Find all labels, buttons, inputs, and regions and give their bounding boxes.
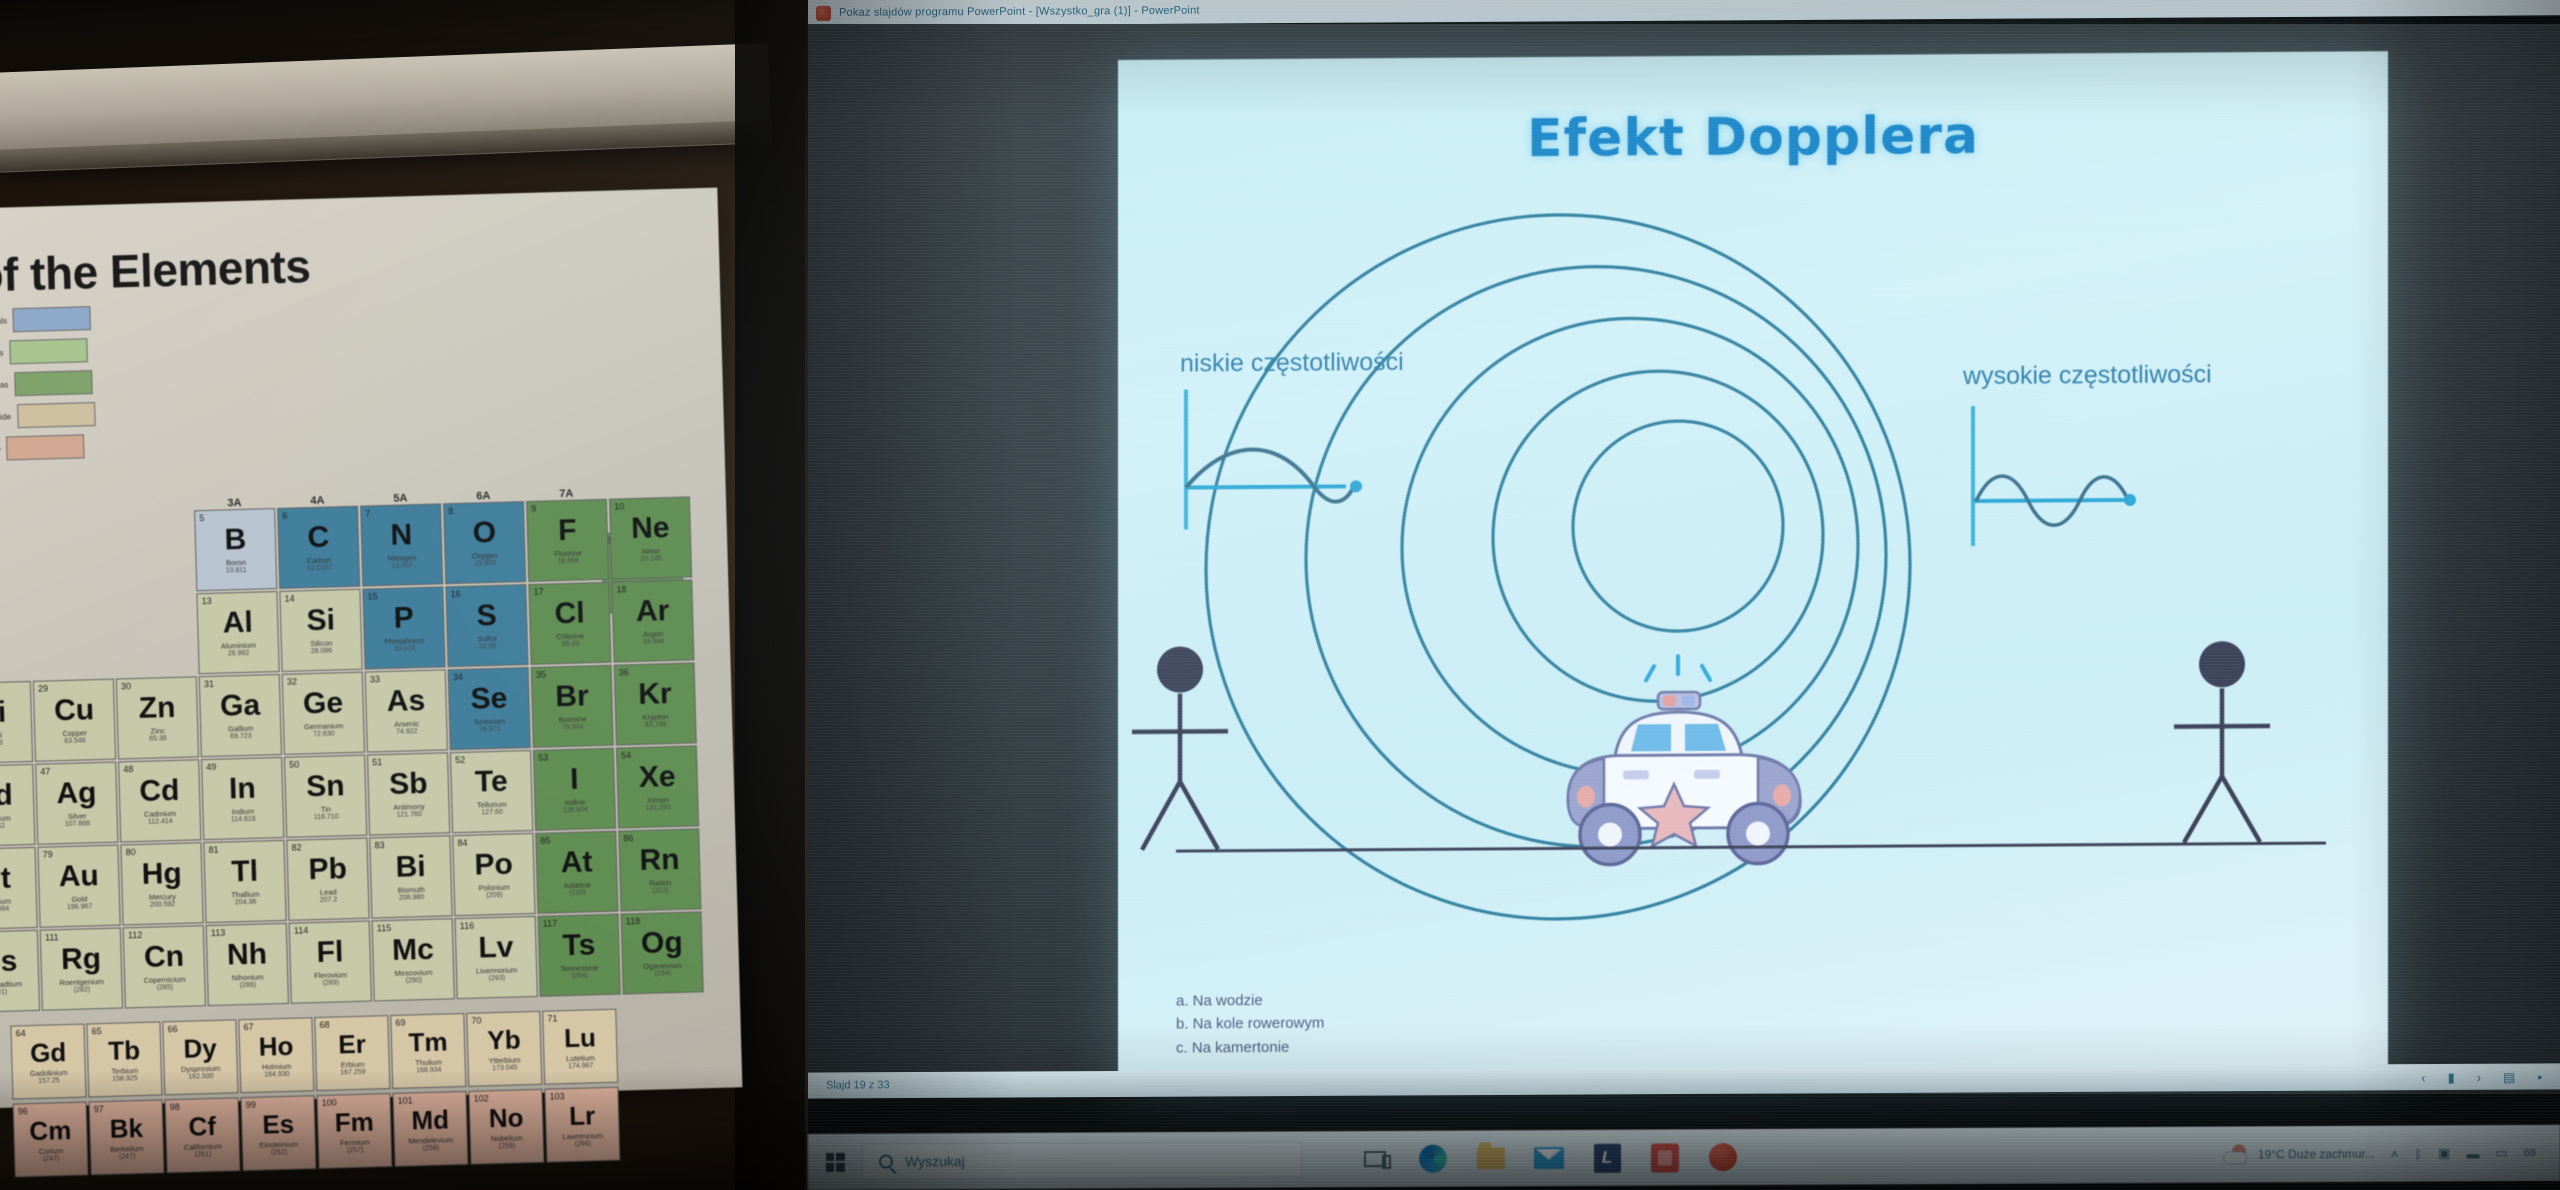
taskbar-app-icons: L [1360, 1142, 1738, 1174]
element-symbol: Lv [478, 933, 514, 964]
more-options-button[interactable]: ▪ [2537, 1070, 2542, 1083]
edge-icon [1419, 1145, 1447, 1173]
powerpoint-icon [816, 5, 831, 20]
element-name: Fermium [340, 1137, 370, 1147]
element-cell-rg: 111RgRoentgenium(282) [40, 928, 123, 1011]
element-mass: 208.980 [399, 894, 424, 902]
element-cell-se: 34SeSelenium78.971 [448, 667, 531, 750]
element-number: 64 [15, 1028, 25, 1038]
element-mass: (257) [347, 1146, 364, 1153]
element-symbol: Ge [303, 688, 344, 719]
element-cell-au: 79AuGold196.967 [37, 845, 120, 928]
element-number: 6 [282, 511, 287, 521]
element-symbol: Mc [392, 935, 435, 966]
wall-dark-edge [735, 0, 805, 1190]
element-name: Gold [71, 894, 87, 903]
legend-swatch [9, 338, 88, 364]
element-symbol: Au [58, 861, 99, 892]
screenshot-root: of the Elements Nonmetals Halogens Noble… [0, 0, 2560, 1190]
red-app-icon [1651, 1143, 1679, 1172]
element-mass: (266) [575, 1140, 592, 1147]
legend-item: Halogens [0, 336, 130, 366]
element-cell-br: 35BrBromine79.904 [531, 665, 614, 748]
element-cell-p: 15PPhosphorus30.974 [362, 586, 445, 669]
periodic-table-grid: 3A 4A 5A 6A 7A 5BBoron10.8116CCarbon12.0… [0, 484, 724, 1180]
element-name: Selenium [474, 717, 506, 727]
legend-swatch [13, 306, 92, 332]
element-symbol: Rg [61, 944, 102, 975]
element-symbol: As [386, 686, 425, 717]
element-mass: 131.293 [645, 804, 670, 812]
doppler-diagram [1118, 51, 2388, 1090]
previous-slide-button[interactable]: ‹ [2421, 1071, 2425, 1084]
element-symbol: Tm [408, 1028, 448, 1055]
element-cell-pd: 46PdPalladium106.42 [0, 764, 35, 847]
element-cell-pb: 82PbLead207.2 [286, 838, 369, 921]
element-mass: 196.967 [67, 903, 92, 911]
element-symbol: B [224, 525, 247, 556]
element-cell-te: 52TeTellurium127.60 [450, 750, 533, 833]
element-number: 16 [450, 589, 460, 599]
element-symbol: Gd [30, 1039, 67, 1066]
periodic-table-poster: of the Elements Nonmetals Halogens Noble… [0, 188, 742, 1109]
battery-indicator[interactable]: 68 [2524, 1147, 2536, 1160]
element-number: 116 [460, 921, 475, 931]
next-slide-button[interactable]: › [2477, 1070, 2481, 1083]
element-number: 68 [319, 1020, 329, 1030]
element-mass: (259) [499, 1142, 516, 1149]
element-cell-ga: 31GaGallium69.723 [199, 674, 282, 757]
element-symbol: Cl [554, 598, 585, 629]
legend-label: Lanthanide [0, 412, 11, 422]
element-cell-md: 101MdMendelevium(258) [392, 1091, 468, 1167]
element-cell-cm: 96CmCurium(247) [13, 1102, 89, 1178]
element-symbol: In [229, 774, 256, 805]
element-symbol: Fm [334, 1108, 374, 1135]
element-mass: 173.045 [492, 1064, 517, 1072]
element-mass: 195.084 [0, 906, 9, 914]
element-cell-ge: 32GeGermanium72.630 [282, 672, 365, 755]
element-number: 36 [619, 667, 629, 677]
element-symbol: Bk [109, 1114, 143, 1141]
element-symbol: Br [555, 681, 589, 712]
element-symbol: Se [470, 684, 508, 715]
network-icon[interactable]: ▣ [2438, 1145, 2450, 1161]
element-mass: (251) [195, 1151, 212, 1158]
element-cell-c: 6CCarbon12.0107 [277, 506, 360, 589]
element-symbol: Sb [389, 769, 428, 800]
slideshow-nav-controls: ‹ ▮ › ▤ ▪ [2421, 1070, 2542, 1084]
element-symbol: Md [411, 1106, 449, 1133]
element-symbol: Te [474, 767, 508, 798]
element-cell-ds: 110DsDarmstadtium(281) [0, 930, 40, 1013]
element-mass: 39.948 [643, 638, 665, 646]
element-number: 70 [471, 1015, 481, 1025]
element-number: 7 [365, 508, 370, 518]
element-cell-tb: 65TbTerbium158.925 [86, 1021, 162, 1097]
element-number: 98 [170, 1102, 180, 1112]
windows-logo-icon [826, 1152, 845, 1171]
element-cell-tl: 81TlThallium204.38 [203, 840, 286, 923]
show-hidden-icons-button[interactable]: ˄ [2391, 1146, 2399, 1161]
element-mass: (290) [406, 977, 423, 984]
element-mass: 18.998 [557, 558, 579, 566]
element-cell-si: 14SiSilicon28.086 [279, 589, 362, 672]
element-number: 53 [538, 753, 548, 763]
element-symbol: Si [306, 605, 335, 636]
search-input[interactable]: Wyszukaj [862, 1141, 1302, 1179]
element-number: 99 [246, 1100, 256, 1110]
element-number: 103 [549, 1091, 564, 1101]
element-symbol: Cu [54, 695, 95, 726]
element-symbol: Dy [183, 1034, 217, 1061]
slideshow-menu-button[interactable]: ▤ [2503, 1070, 2515, 1083]
element-symbol: P [393, 603, 414, 634]
element-symbol: No [488, 1104, 523, 1131]
element-cell-ag: 47AgSilver107.868 [35, 762, 118, 845]
element-name: Polonium [478, 883, 510, 893]
element-number: 113 [211, 928, 226, 938]
element-mass: 78.971 [479, 726, 501, 734]
volume-icon[interactable]: ▬ [2466, 1146, 2479, 1161]
projection-screen: Pokaz slajdów programu PowerPoint - [Wsz… [808, 0, 2560, 1190]
powerpoint-taskbar-button[interactable] [1708, 1142, 1738, 1172]
element-cell-cu: 29CuCopper63.546 [33, 679, 116, 762]
start-button[interactable] [808, 1152, 862, 1171]
element-symbol: Hg [141, 859, 182, 890]
element-symbol: Zn [138, 693, 175, 724]
element-cell-cl: 17ClChlorine35.45 [528, 582, 611, 665]
element-number: 54 [621, 750, 631, 760]
element-mass: 79.904 [562, 724, 584, 732]
element-mass: (210) [569, 890, 586, 897]
edge-button[interactable] [1418, 1144, 1448, 1174]
element-number: 86 [623, 833, 633, 843]
bluetooth-icon[interactable]: ᛒ [2414, 1146, 2422, 1161]
element-mass: 35.45 [562, 641, 580, 648]
element-symbol: Lr [569, 1102, 596, 1129]
element-mass: (294) [654, 970, 671, 977]
element-cell-po: 84PoPolonium(209) [452, 833, 535, 916]
element-cell-n: 7NNitrogen14.007 [360, 503, 443, 586]
messages-icon[interactable]: ▭ [2495, 1145, 2507, 1161]
element-symbol: Yb [487, 1026, 521, 1053]
element-symbol: Ts [562, 930, 596, 961]
element-mass: 12.0107 [307, 564, 332, 572]
element-mass: 28.086 [311, 647, 333, 655]
periodic-table-rows: 5BBoron10.8116CCarbon12.01077NNitrogen14… [0, 496, 720, 1012]
element-mass: (286) [240, 982, 257, 989]
legend-item: Actinide [0, 432, 133, 462]
element-symbol: Po [474, 850, 513, 881]
element-cell-sb: 51SbAntimony121.760 [367, 752, 450, 835]
element-mass: (222) [652, 887, 669, 894]
element-symbol: Cf [188, 1112, 216, 1139]
element-cell-bk: 97BkBerkelium(247) [89, 1099, 165, 1175]
periodic-table-row: 5BBoron10.8116CCarbon12.01077NNitrogen14… [194, 496, 708, 591]
element-mass: 167.259 [340, 1068, 365, 1076]
powerpoint-taskbar-icon [1709, 1143, 1737, 1171]
element-mass: 20.180 [640, 555, 662, 563]
element-number: 117 [543, 918, 558, 928]
legend-label: Nonmetals [0, 316, 7, 326]
element-cell-lr: 103LrLawrencium(266) [544, 1087, 620, 1163]
element-mass: (293) [489, 975, 506, 982]
mail-icon [1534, 1147, 1564, 1169]
element-mass: 107.868 [65, 820, 90, 828]
element-number: 114 [294, 925, 309, 935]
element-mass: 58.693 [0, 740, 3, 748]
periodic-table-row: 13AlAluminium26.98214SiSilicon28.08615PP… [196, 579, 710, 674]
element-cell-ne: 10NeNeon20.180 [609, 496, 692, 579]
element-symbol: Pd [0, 780, 13, 811]
element-symbol: Nh [227, 939, 268, 970]
element-mass: 204.38 [235, 899, 257, 907]
task-view-button[interactable] [1360, 1144, 1390, 1174]
element-number: 66 [167, 1024, 177, 1034]
element-symbol: C [307, 523, 330, 554]
element-mass: 126.904 [562, 806, 587, 814]
element-number: 17 [533, 587, 543, 597]
element-symbol: F [558, 516, 577, 547]
element-number: 96 [18, 1106, 28, 1116]
element-cell-fl: 114FlFlerovium(289) [289, 921, 372, 1004]
legend-item: Nonmetals [0, 304, 129, 334]
element-number: 14 [284, 594, 294, 604]
element-symbol: Es [262, 1110, 295, 1137]
element-mass: (294) [571, 972, 588, 979]
element-cell-ts: 117TsTennessine(294) [538, 914, 621, 997]
element-mass: (209) [486, 892, 503, 899]
element-cell-f: 9FFluorine18.998 [526, 499, 609, 582]
element-name: Tin [321, 805, 331, 814]
element-number: 85 [540, 835, 550, 845]
element-mass: 26.982 [228, 650, 250, 658]
element-symbol: Kr [638, 679, 672, 710]
element-mass: 65.38 [149, 735, 167, 742]
element-number: 49 [206, 762, 216, 772]
element-cell-og: 118OgOganesson(294) [621, 911, 704, 994]
element-name: Chlorine [556, 631, 584, 641]
file-explorer-button[interactable] [1476, 1143, 1506, 1173]
element-mass: 32.06 [479, 643, 497, 650]
librus-button[interactable]: L [1592, 1143, 1622, 1173]
element-mass: 74.922 [396, 728, 418, 736]
element-mass: 112.414 [148, 818, 173, 826]
powerpoint-titlebar: Pokaz slajdów programu PowerPoint - [Wsz… [808, 0, 2560, 26]
element-number: 8 [448, 506, 453, 516]
element-mass: (247) [43, 1155, 60, 1162]
element-cell-cn: 112CnCopernicium(285) [123, 925, 206, 1008]
search-icon [879, 1155, 893, 1169]
element-mass: 63.546 [64, 737, 86, 745]
element-cell-es: 99EsEinsteinium(252) [241, 1095, 317, 1171]
element-mass: 174.967 [568, 1062, 593, 1070]
element-cell-xe: 54XeXenon131.293 [616, 745, 699, 828]
element-number: 9 [531, 504, 536, 514]
legend-label: Noble Gas [0, 380, 8, 390]
element-mass: 72.630 [313, 730, 335, 738]
element-cell-bi: 83BiBismuth208.980 [369, 835, 452, 918]
element-name: Flerovium [314, 970, 347, 980]
element-number: 47 [40, 766, 50, 776]
element-mass: 10.811 [226, 567, 247, 575]
element-number: 112 [128, 930, 143, 940]
element-symbol: Pb [308, 854, 347, 885]
element-cell-hg: 80HgMercury200.592 [120, 842, 203, 925]
legend-swatch [17, 402, 96, 428]
element-number: 30 [121, 681, 131, 691]
element-cell-s: 16SSulfur32.06 [445, 584, 528, 667]
element-number: 80 [125, 847, 135, 857]
legend-swatch [14, 370, 93, 396]
element-number: 29 [38, 683, 48, 693]
element-number: 118 [626, 916, 641, 926]
sound-wave-arcs [1206, 212, 1910, 921]
legend-label: Actinide [0, 444, 1, 454]
element-cell-gd: 64GdGadolinium157.25 [10, 1024, 86, 1100]
element-cell-kr: 36KrKrypton83.798 [614, 662, 697, 745]
element-cell-ar: 18ArArgon39.948 [611, 579, 694, 662]
element-number: 51 [372, 757, 382, 767]
element-mass: 83.798 [645, 721, 667, 729]
element-name: Nihonium [232, 973, 264, 983]
element-symbol: Ga [220, 691, 261, 722]
element-name: Lead [320, 887, 337, 896]
pointer-tool-button[interactable]: ▮ [2448, 1070, 2455, 1083]
element-cell-cd: 48CdCadmium112.414 [118, 759, 201, 842]
element-name: Nobelium [491, 1133, 523, 1143]
element-cell-ho: 67HoHolmium164.930 [238, 1017, 314, 1093]
legend-item: Lanthanide [0, 400, 132, 430]
weather-icon [2223, 1143, 2249, 1165]
element-symbol: Er [338, 1030, 366, 1057]
powerpoint-desktop: Efekt Dopplera niskie częstotliwości wys… [808, 24, 2560, 1094]
police-car-icon [1568, 655, 1800, 865]
element-symbol: Xe [638, 762, 676, 793]
element-cell-b: 5BBoron10.811 [194, 508, 277, 591]
element-name: Berkelium [110, 1143, 144, 1153]
element-number: 18 [616, 584, 626, 594]
element-number: 79 [43, 849, 53, 859]
periodic-table-row: 110DsDarmstadtium(281)111RgRoentgenium(2… [0, 911, 720, 1013]
element-symbol: Cn [144, 942, 185, 973]
weather-widget[interactable]: 19°C Duże zachmur... [2223, 1143, 2375, 1166]
slide-canvas[interactable]: Efekt Dopplera niskie częstotliwości wys… [1118, 51, 2388, 1090]
red-app-button[interactable] [1650, 1142, 1680, 1172]
element-cell-zn: 30ZnZinc65.38 [116, 676, 199, 759]
element-number: 102 [473, 1093, 488, 1103]
element-symbol: N [390, 520, 413, 551]
element-mass: 164.930 [264, 1070, 289, 1078]
element-cell-dy: 66DyDysprosium162.500 [162, 1019, 238, 1095]
element-symbol: Sn [306, 771, 345, 802]
element-number: 101 [398, 1095, 413, 1105]
element-cell-in: 49InIndium114.818 [201, 757, 284, 840]
element-number: 111 [45, 932, 59, 942]
element-symbol: Tb [108, 1037, 140, 1064]
element-number: 31 [204, 679, 214, 689]
element-mass: 157.25 [38, 1077, 60, 1085]
element-number: 81 [208, 845, 218, 855]
element-number: 35 [536, 670, 546, 680]
element-cell-yb: 70YbYtterbium173.045 [466, 1011, 542, 1087]
element-mass: (282) [74, 986, 91, 993]
answer-option-a: a. Na wodzie [1176, 989, 1324, 1013]
element-cell-nh: 113NhNihonium(286) [206, 923, 289, 1006]
legend-item: Noble Gas [0, 368, 131, 398]
element-cell-tm: 69TmThulium168.934 [390, 1013, 466, 1089]
poster-legend: Nonmetals Halogens Noble Gas Lanthanide … [0, 304, 133, 468]
element-mass: 14.007 [391, 562, 413, 570]
element-mass: 207.2 [320, 896, 338, 903]
element-number: 48 [123, 764, 133, 774]
element-mass: 106.42 [0, 823, 5, 831]
element-number: 69 [395, 1018, 405, 1028]
element-mass: 69.723 [230, 733, 252, 741]
answer-list: a. Na wodzie b. Na kole rowerowym c. Na … [1176, 989, 1324, 1060]
element-number: 34 [453, 672, 463, 682]
element-symbol: At [560, 847, 592, 878]
legend-swatch [6, 434, 85, 460]
element-mass: 158.925 [112, 1075, 137, 1083]
element-symbol: Ar [636, 596, 670, 627]
poster-title: of the Elements [0, 228, 704, 302]
element-mass: 114.818 [231, 816, 256, 824]
element-number: 83 [374, 840, 384, 850]
element-cell-at: 85AtAstatine(210) [535, 831, 618, 914]
element-symbol: Tl [231, 857, 258, 888]
element-name: Curium [39, 1146, 63, 1156]
element-number: 10 [614, 501, 624, 511]
element-symbol: Ne [631, 513, 670, 544]
slide-counter: Slajd 19 z 33 [826, 1079, 890, 1091]
element-symbol: Og [641, 928, 683, 959]
element-cell-pt: 78PtPlatinum195.084 [0, 847, 38, 930]
element-symbol: Cm [29, 1116, 72, 1143]
legend-label: Halogens [0, 348, 4, 358]
element-number: 71 [547, 1013, 557, 1023]
element-mass: (285) [157, 984, 174, 991]
element-mass: 200.592 [150, 901, 175, 909]
element-symbol: Pt [0, 864, 11, 895]
slideshow-status-bar: Slajd 19 z 33 ‹ ▮ › ▤ ▪ [808, 1063, 2560, 1098]
element-symbol: Lu [564, 1024, 596, 1051]
element-name: Astatine [564, 880, 591, 890]
search-placeholder: Wyszukaj [905, 1153, 965, 1169]
task-view-icon [1364, 1151, 1386, 1167]
element-mass: 15.999 [474, 560, 496, 568]
element-number: 52 [455, 755, 465, 765]
mail-button[interactable] [1534, 1143, 1564, 1173]
element-cell-er: 68ErErbium167.259 [314, 1015, 390, 1091]
element-mass: (252) [271, 1148, 288, 1155]
answer-option-c: c. Na kamertonie [1176, 1035, 1324, 1059]
element-number: 5 [199, 513, 204, 523]
element-number: 84 [457, 838, 467, 848]
element-cell-lv: 116LvLivermorium(293) [455, 916, 538, 999]
librus-icon: L [1594, 1143, 1621, 1172]
element-symbol: Ds [0, 946, 18, 977]
element-cell-i: 53IIodine126.904 [533, 748, 616, 831]
element-mass: 121.760 [396, 811, 421, 819]
element-mass: 127.60 [481, 809, 503, 817]
element-mass: 30.974 [394, 645, 416, 653]
weather-text: 19°C Duże zachmur... [2258, 1147, 2375, 1162]
element-number: 115 [377, 923, 392, 933]
element-number: 100 [322, 1098, 337, 1108]
element-symbol: Ni [0, 698, 7, 729]
